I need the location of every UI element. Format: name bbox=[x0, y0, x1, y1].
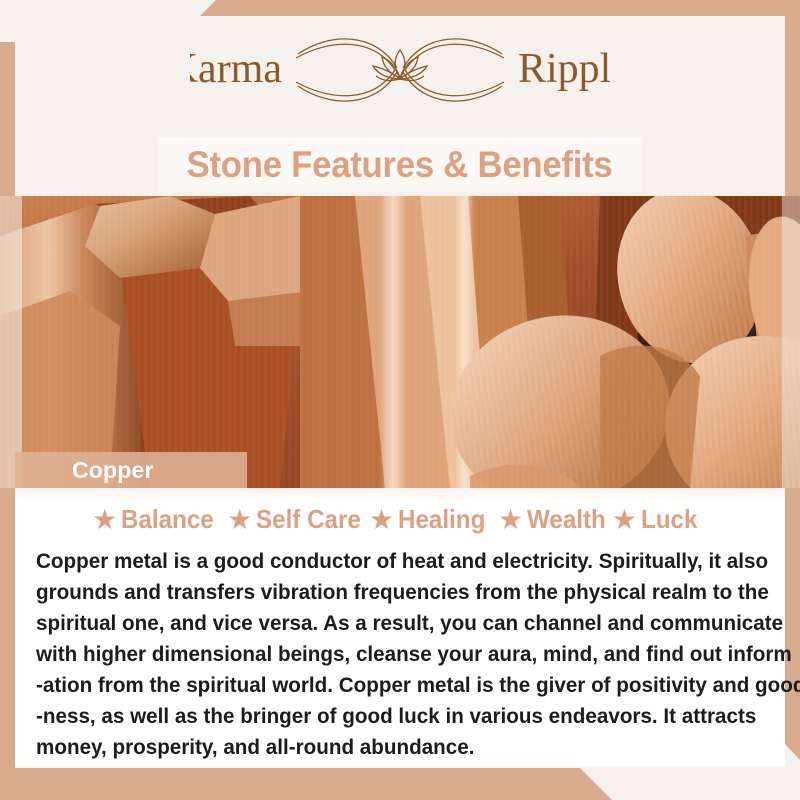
copper-bars-illustration bbox=[0, 196, 800, 488]
description-line: Copper metal is a good conductor of heat… bbox=[36, 546, 743, 577]
description-line: money, prosperity, and all-round abundan… bbox=[36, 732, 743, 763]
description-line: grounds and transfers vibration frequenc… bbox=[36, 577, 743, 608]
benefit-item: ★ Balance bbox=[92, 504, 227, 535]
content-panel: ★ Balance ★ Self Care ★ Healing ★ Wealth… bbox=[15, 488, 785, 766]
star-icon: ★ bbox=[92, 506, 117, 534]
description-line: spiritual one, and vice versa. As a resu… bbox=[36, 608, 743, 639]
benefit-item: ★ Luck bbox=[612, 504, 708, 535]
brand-logo: Karma Ripple bbox=[0, 24, 800, 116]
brand-name-right: Ripple bbox=[518, 46, 610, 92]
benefit-label: Healing bbox=[398, 504, 485, 535]
star-icon: ★ bbox=[498, 506, 523, 534]
description-line: -ness, as well as the bringer of good lu… bbox=[36, 701, 743, 732]
hero-image-copper-bars bbox=[0, 196, 800, 488]
photo-right-overlay bbox=[782, 196, 800, 488]
photo-left-overlay bbox=[0, 196, 22, 488]
star-icon: ★ bbox=[612, 506, 637, 534]
infographic-page: Karma Ripple Stone Features & Benefits bbox=[0, 0, 800, 800]
description-line: with higher dimensional beings, cleanse … bbox=[36, 639, 743, 670]
benefit-label: Luck bbox=[641, 504, 697, 535]
brand-name-left: Karma bbox=[190, 46, 282, 92]
benefit-label: Self Care bbox=[256, 504, 361, 535]
panel-top-fade bbox=[15, 488, 785, 502]
description-text: Copper metal is a good conductor of heat… bbox=[36, 546, 772, 763]
hero-caption-banner: Copper bbox=[15, 452, 247, 488]
lotus-icon: Karma Ripple bbox=[190, 24, 610, 116]
star-icon: ★ bbox=[227, 506, 252, 534]
frame-bottom-band bbox=[0, 768, 800, 800]
benefits-row: ★ Balance ★ Self Care ★ Healing ★ Wealth… bbox=[15, 504, 785, 535]
section-heading-band: Stone Features & Benefits bbox=[158, 137, 642, 192]
benefit-item: ★ Healing bbox=[369, 504, 498, 535]
frame-top-band bbox=[0, 0, 800, 16]
benefit-item: ★ Self Care bbox=[227, 504, 369, 535]
page-title: Stone Features & Benefits bbox=[187, 144, 613, 186]
benefit-label: Balance bbox=[121, 504, 214, 535]
star-icon: ★ bbox=[369, 506, 394, 534]
benefit-label: Wealth bbox=[527, 504, 606, 535]
description-line: -ation from the spiritual world. Copper … bbox=[36, 670, 743, 701]
benefit-item: ★ Wealth bbox=[498, 504, 612, 535]
hero-caption-label: Copper bbox=[72, 457, 154, 484]
